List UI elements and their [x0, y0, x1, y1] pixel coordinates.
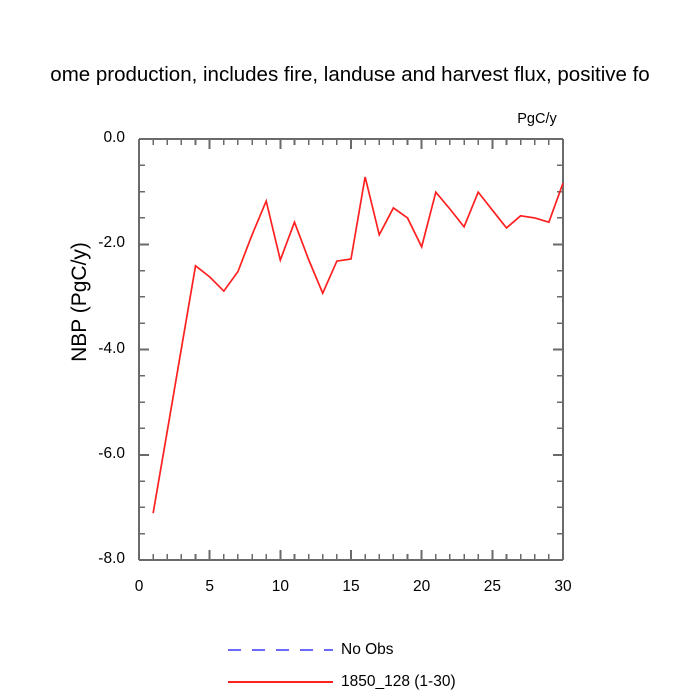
chart-legend: No Obs1850_128 (1-30) [0, 636, 700, 700]
legend-swatch [228, 649, 333, 651]
legend-item[interactable]: 1850_128 (1-30) [0, 668, 700, 700]
legend-label: No Obs [341, 640, 394, 660]
y-tick-label: -2.0 [31, 235, 125, 251]
x-tick-label: 15 [311, 579, 391, 595]
x-tick-label: 25 [452, 579, 532, 595]
y-tick-label: -4.0 [31, 341, 125, 357]
x-tick-label: 5 [170, 579, 250, 595]
series-line [153, 177, 563, 513]
axis-frame [139, 139, 563, 560]
x-tick-label: 0 [99, 579, 179, 595]
y-tick-label: -8.0 [31, 551, 125, 567]
legend-item[interactable]: No Obs [0, 636, 700, 668]
legend-swatch [228, 681, 333, 683]
x-tick-label: 10 [240, 579, 320, 595]
legend-label: 1850_128 (1-30) [341, 672, 456, 692]
x-tick-label: 30 [523, 579, 603, 595]
data-series-layer [153, 177, 563, 513]
y-tick-label: -6.0 [31, 446, 125, 462]
chart-page: ome production, includes fire, landuse a… [0, 0, 700, 700]
y-tick-label: 0.0 [31, 130, 125, 146]
x-tick-label: 20 [382, 579, 462, 595]
